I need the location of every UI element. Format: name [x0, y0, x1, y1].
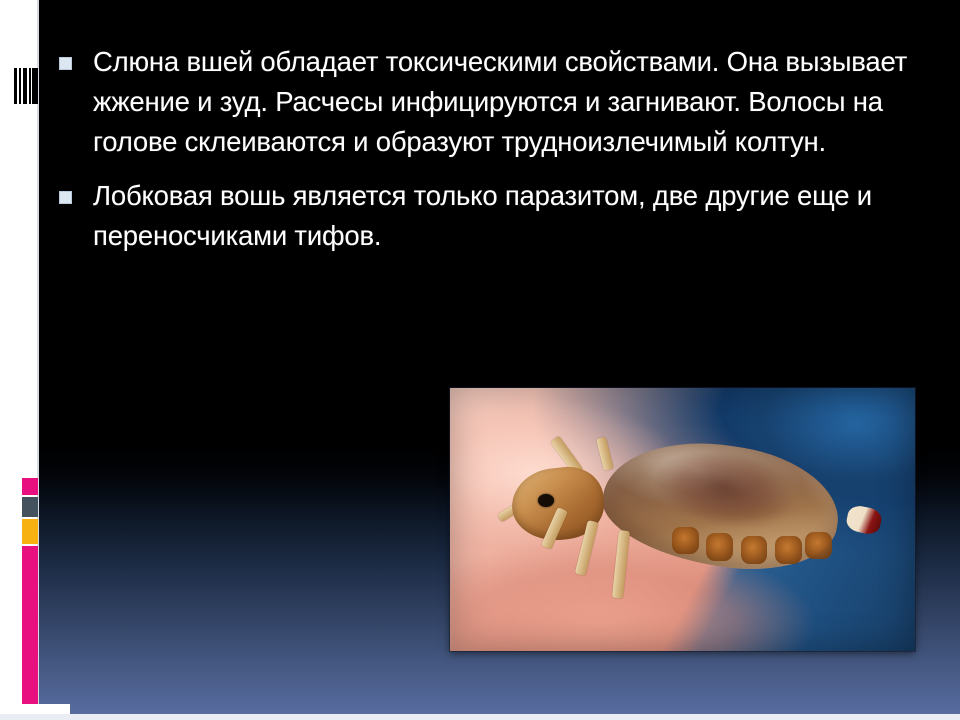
bullet-square-icon — [60, 192, 71, 203]
chip-amber — [22, 519, 38, 544]
louse-leg — [611, 530, 629, 599]
bullet-square-icon — [60, 58, 71, 69]
slide: Слюна вшей обладает токсическими свойств… — [0, 0, 960, 720]
photo-canvas — [450, 388, 915, 651]
louse-segment-mark — [672, 527, 699, 555]
bullet-item: Лобковая вошь является только паразитом,… — [60, 176, 920, 256]
chip-pink-small — [22, 478, 38, 495]
barcode-stripes-icon — [14, 68, 38, 104]
bullet-text: Слюна вшей обладает токсическими свойств… — [93, 42, 920, 162]
chip-pink-bar — [22, 546, 38, 705]
bullet-item: Слюна вшей обладает токсическими свойств… — [60, 42, 920, 162]
bottom-edge-strip — [0, 714, 960, 720]
louse-segment-mark — [775, 536, 802, 564]
louse-segment-mark — [706, 533, 733, 561]
louse-on-skin-photo — [450, 388, 915, 651]
louse-segment-mark — [805, 532, 832, 560]
louse-figure — [497, 435, 878, 598]
bullet-text: Лобковая вошь является только паразитом,… — [93, 176, 920, 256]
slide-body: Слюна вшей обладает токсическими свойств… — [60, 42, 920, 270]
louse-leg — [596, 436, 614, 470]
chip-slate — [22, 497, 38, 517]
louse-segment-mark — [741, 536, 768, 564]
